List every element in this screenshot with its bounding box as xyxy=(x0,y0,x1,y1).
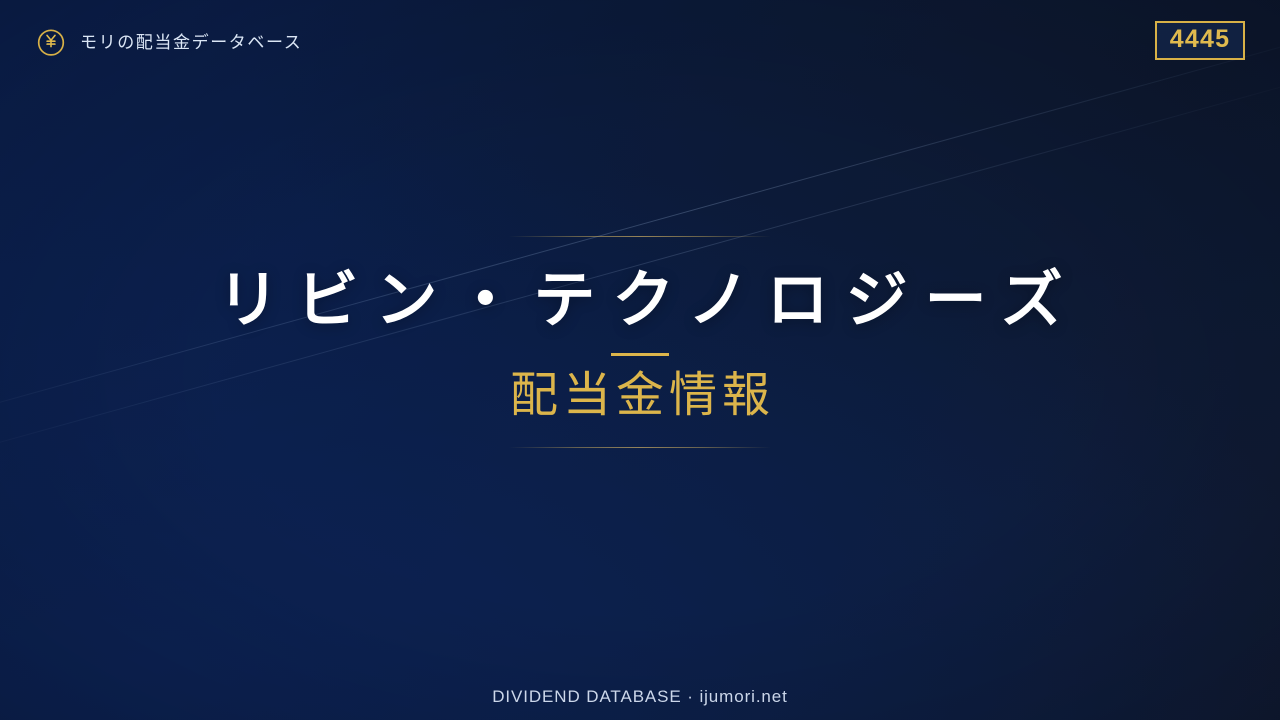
site-header: モリの配当金データベース xyxy=(36,27,302,57)
title-slide: モリの配当金データベース 4445 リビン・テクノロジーズ 配当金情報 DIVI… xyxy=(0,0,1280,720)
gold-dash-divider-icon xyxy=(611,353,669,356)
hero-block: リビン・テクノロジーズ 配当金情報 xyxy=(0,236,1280,448)
hero-rule-bottom xyxy=(509,447,771,448)
brand-title: モリの配当金データベース xyxy=(80,34,302,51)
yen-circle-icon xyxy=(36,27,66,57)
hero-subtitle: 配当金情報 xyxy=(505,370,775,423)
footer-credit: DIVIDEND DATABASE · ijumori.net xyxy=(0,687,1280,707)
hero-rule-top xyxy=(509,236,771,237)
ticker-code-badge: 4445 xyxy=(1155,21,1245,60)
company-name: リビン・テクノロジーズ xyxy=(200,268,1079,335)
